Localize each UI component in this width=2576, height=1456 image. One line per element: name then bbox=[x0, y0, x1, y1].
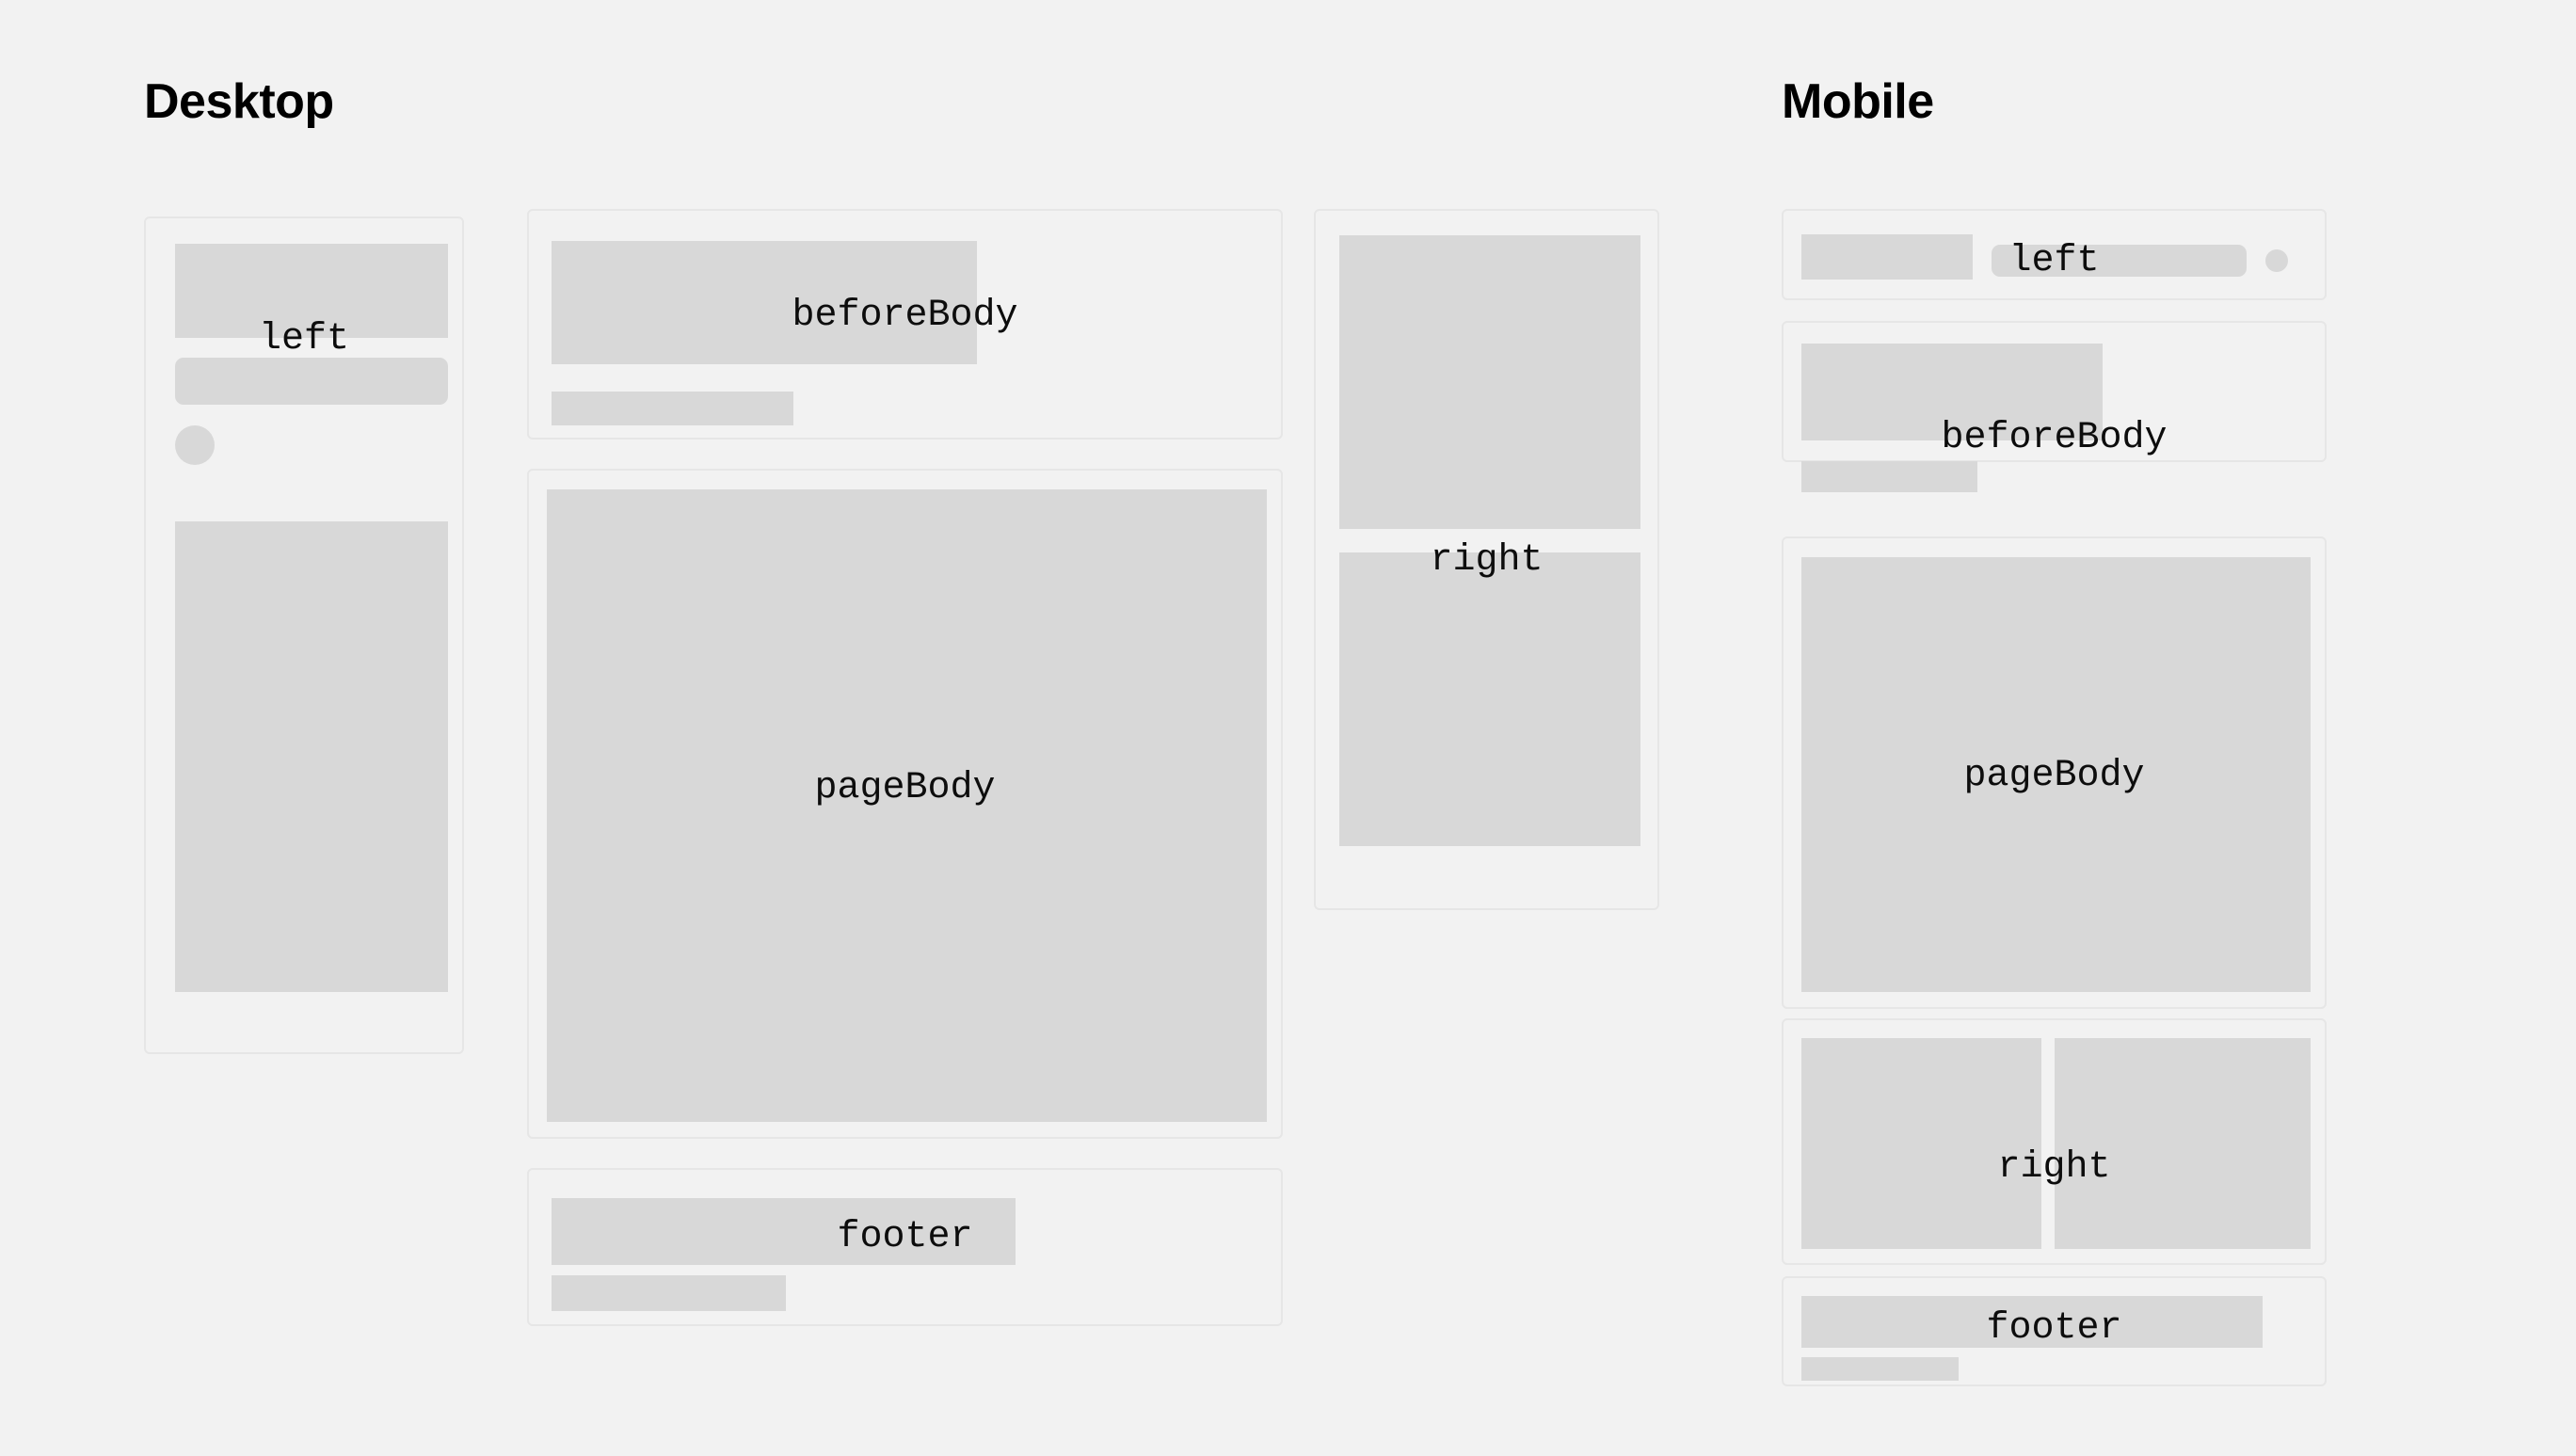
desktop-slot-beforebody[interactable] bbox=[527, 209, 1283, 440]
desktop-slot-right[interactable] bbox=[1314, 209, 1659, 910]
skeleton-rect-right bbox=[2055, 1038, 2311, 1249]
skeleton-rect-small bbox=[1801, 234, 1973, 280]
desktop-slot-left[interactable] bbox=[144, 216, 464, 1054]
skeleton-rect-small bbox=[1801, 1357, 1959, 1381]
mobile-slot-right[interactable] bbox=[1782, 1018, 2327, 1265]
mobile-slot-beforebody[interactable] bbox=[1782, 321, 2327, 462]
desktop-section-heading: Desktop bbox=[144, 77, 334, 126]
skeleton-rect-wide bbox=[1801, 1296, 2263, 1348]
skeleton-rect-wide bbox=[552, 1198, 1016, 1265]
skeleton-avatar-circle bbox=[175, 425, 215, 465]
mobile-section-heading: Mobile bbox=[1782, 77, 1934, 126]
skeleton-rect-large bbox=[175, 244, 448, 338]
skeleton-rect-small bbox=[1801, 461, 1977, 492]
skeleton-rect-top bbox=[1339, 235, 1640, 529]
skeleton-rect-left bbox=[1801, 1038, 2041, 1249]
mobile-slot-left[interactable] bbox=[1782, 209, 2327, 300]
desktop-slot-pagebody[interactable] bbox=[527, 469, 1283, 1139]
mobile-slot-footer[interactable] bbox=[1782, 1276, 2327, 1386]
desktop-slot-footer[interactable] bbox=[527, 1168, 1283, 1326]
skeleton-avatar-circle bbox=[2265, 249, 2288, 272]
skeleton-rect-wide bbox=[1801, 344, 2103, 440]
layout-preview-canvas: Desktop Mobile left beforeBody pageBody … bbox=[0, 0, 2576, 1456]
skeleton-tall-rect bbox=[175, 521, 448, 992]
skeleton-rect-fill bbox=[547, 489, 1267, 1122]
skeleton-rect-small bbox=[552, 1275, 786, 1311]
skeleton-pill-bar bbox=[175, 358, 448, 405]
skeleton-rect-bottom bbox=[1339, 552, 1640, 846]
skeleton-rect-small bbox=[552, 392, 793, 425]
skeleton-rect-fill bbox=[1801, 557, 2311, 992]
skeleton-pill-bar bbox=[1992, 245, 2247, 277]
skeleton-rect-wide bbox=[552, 241, 977, 364]
mobile-slot-pagebody[interactable] bbox=[1782, 536, 2327, 1009]
